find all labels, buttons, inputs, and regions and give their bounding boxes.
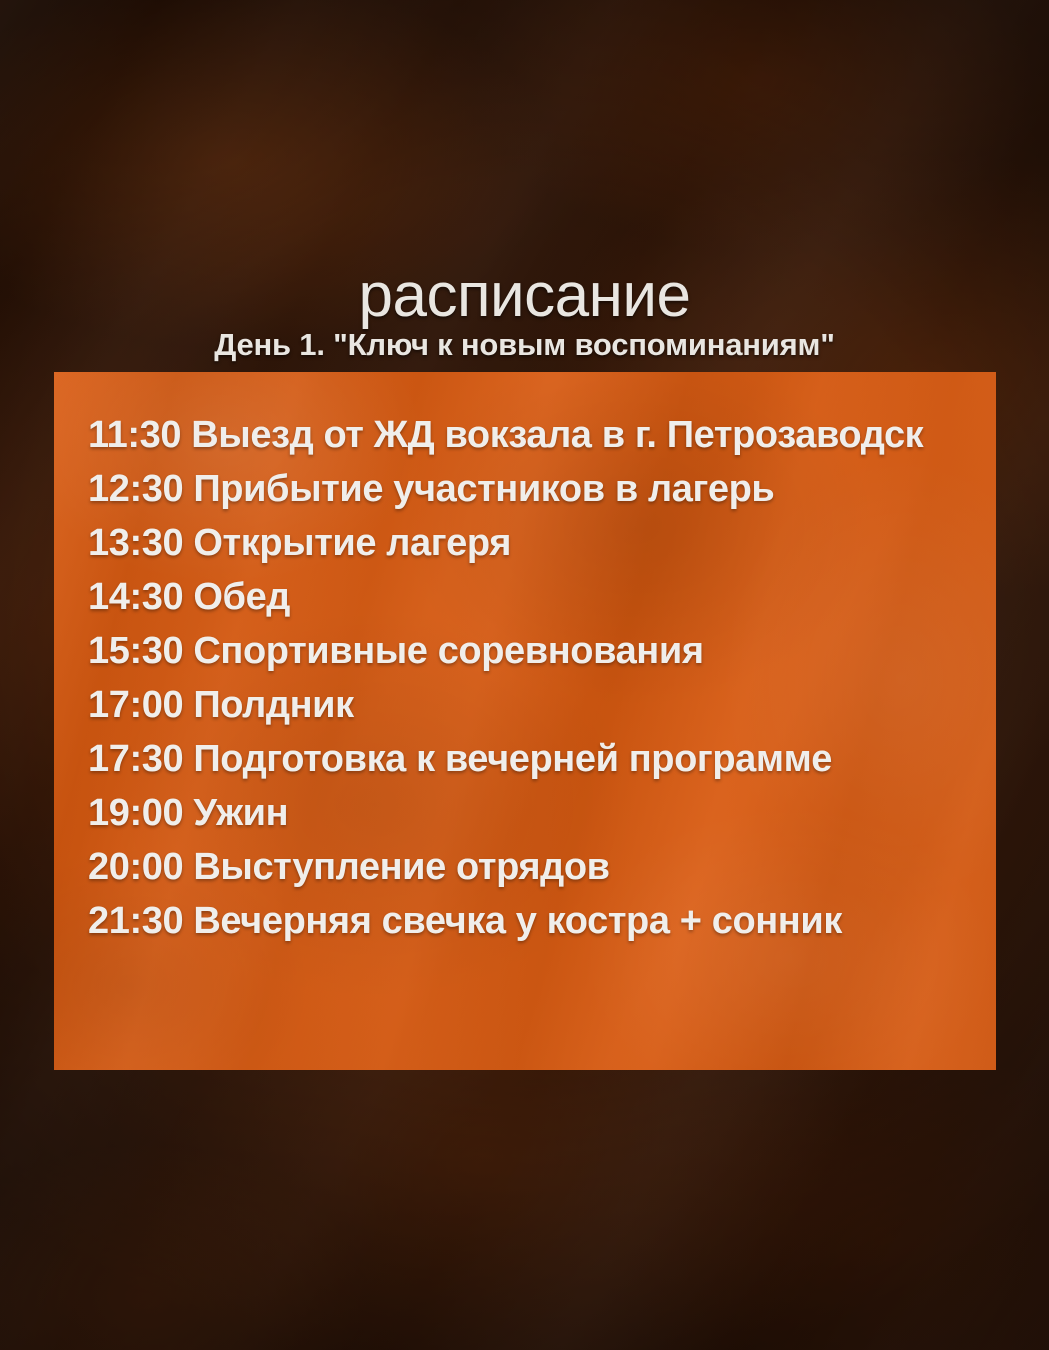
poster-heading: расписание День 1. "Ключ к новым воспоми… (0, 266, 1049, 362)
list-item: 19:00 Ужин (88, 786, 982, 840)
list-item: 14:30 Обед (88, 570, 982, 624)
list-item: 13:30 Открытие лагеря (88, 516, 982, 570)
schedule-list: 11:30 Выезд от ЖД вокзала в г. Петрозаво… (88, 408, 982, 948)
schedule-panel: 11:30 Выезд от ЖД вокзала в г. Петрозаво… (54, 372, 996, 1070)
list-item: 21:30 Вечерняя свечка у костра + сонник (88, 894, 982, 948)
list-item: 11:30 Выезд от ЖД вокзала в г. Петрозаво… (88, 408, 982, 462)
list-item: 20:00 Выступление отрядов (88, 840, 982, 894)
page-title: расписание (0, 266, 1049, 326)
page-subtitle: День 1. "Ключ к новым воспоминаниям" (0, 328, 1049, 362)
list-item: 15:30 Спортивные соревнования (88, 624, 982, 678)
schedule-poster: расписание День 1. "Ключ к новым воспоми… (0, 0, 1049, 1350)
list-item: 17:30 Подготовка к вечерней программе (88, 732, 982, 786)
list-item: 12:30 Прибытие участников в лагерь (88, 462, 982, 516)
list-item: 17:00 Полдник (88, 678, 982, 732)
